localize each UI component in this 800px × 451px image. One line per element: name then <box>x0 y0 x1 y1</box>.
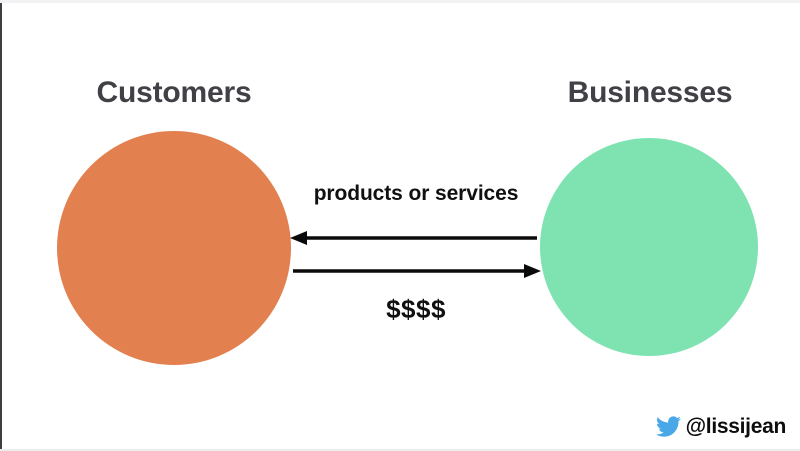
customers-circle <box>57 131 291 365</box>
twitter-handle-text: @lissijean <box>686 415 786 439</box>
arrow-right-to-left <box>290 231 537 245</box>
right-node-title: Businesses <box>500 76 800 110</box>
diagram-slide: Customers Businesses products or service… <box>0 0 800 451</box>
flow-arrows <box>285 226 547 286</box>
credit-handle: @lissijean <box>656 414 786 439</box>
businesses-circle <box>540 138 758 356</box>
slide-left-edge <box>0 0 2 451</box>
twitter-bird-icon <box>656 414 681 439</box>
flow-label-products-or-services: products or services <box>292 182 540 206</box>
slide-top-edge <box>0 0 800 3</box>
arrow-left-to-right <box>293 264 541 278</box>
left-node-title: Customers <box>0 76 348 110</box>
flow-label-money: $$$$ <box>292 294 540 325</box>
